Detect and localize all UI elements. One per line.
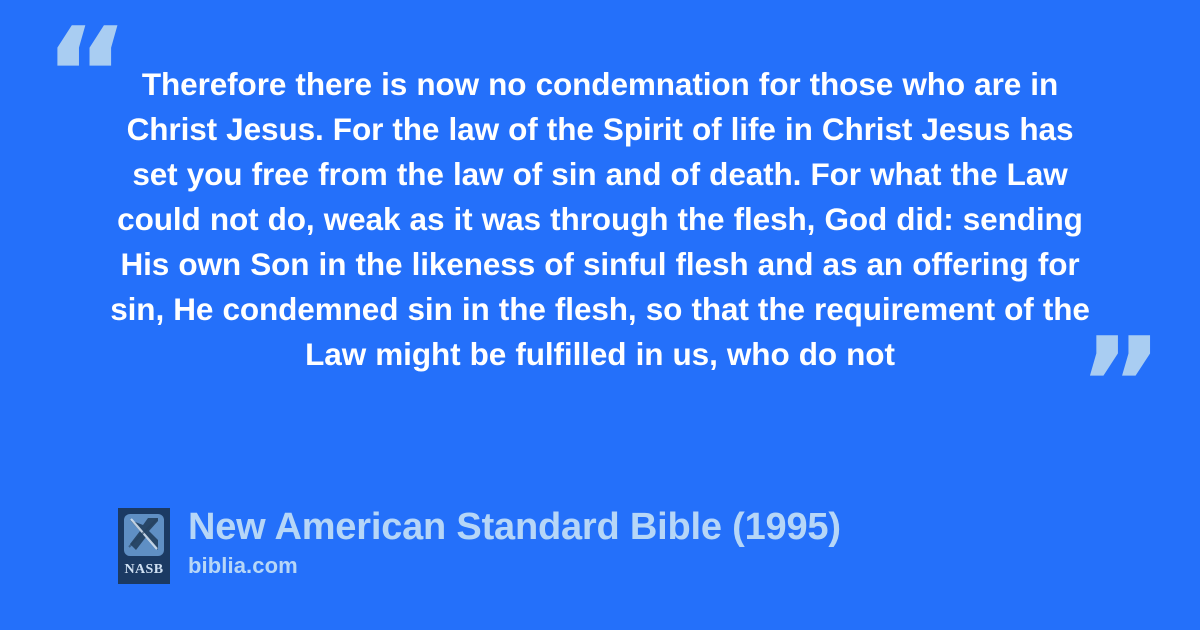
quote-text: Therefore there is now no condemnation f… <box>108 62 1092 377</box>
bible-version-title: New American Standard Bible (1995) <box>188 504 841 550</box>
attribution-footer: NASB New American Standard Bible (1995) … <box>118 504 841 584</box>
close-quote-icon: ” <box>1078 320 1163 450</box>
cross-sword-icon <box>124 514 164 556</box>
nasb-logo: NASB <box>118 508 170 584</box>
quote-card: “ Therefore there is now no condemnation… <box>0 0 1200 630</box>
logo-wordmark: NASB <box>118 562 170 578</box>
attribution-text: New American Standard Bible (1995) bibli… <box>188 504 841 580</box>
source-url[interactable]: biblia.com <box>188 552 841 580</box>
quote-area: Therefore there is now no condemnation f… <box>108 62 1092 432</box>
